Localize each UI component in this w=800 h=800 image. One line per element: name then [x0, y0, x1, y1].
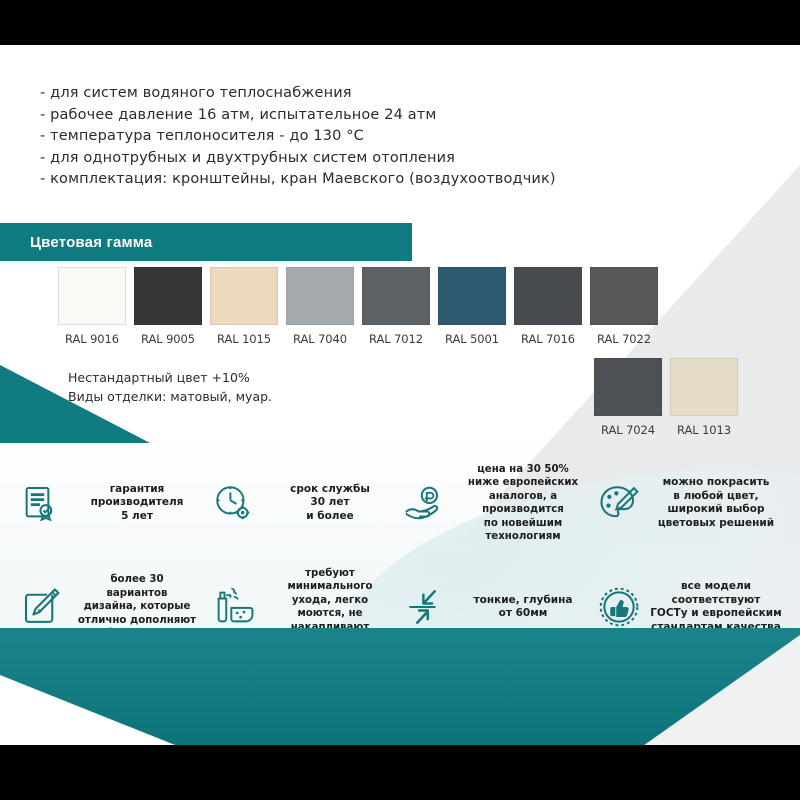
color-swatch-chip: [438, 267, 506, 325]
color-swatch-label: RAL 1015: [210, 332, 278, 346]
hand-ruble-icon: [404, 481, 448, 525]
color-range-title: Цветовая гамма: [30, 234, 152, 251]
palette-row-secondary: RAL 7024RAL 1013: [594, 358, 738, 437]
spec-item: - комплектация: кронштейны, кран Маевско…: [40, 169, 640, 189]
color-swatch-label: RAL 7024: [594, 423, 662, 437]
clock-gear-icon: [211, 481, 255, 525]
feature-item: срок службы30 лети более: [207, 453, 400, 553]
color-swatch[interactable]: RAL 1015: [210, 267, 278, 346]
color-swatch-label: RAL 9005: [134, 332, 202, 346]
color-swatch[interactable]: RAL 7022: [590, 267, 658, 346]
feature-label: срок службы30 лети более: [264, 483, 396, 524]
color-swatch-label: RAL 7012: [362, 332, 430, 346]
color-swatch[interactable]: RAL 7024: [594, 358, 662, 437]
color-swatch-chip: [362, 267, 430, 325]
color-swatch-chip: [514, 267, 582, 325]
spec-item: - рабочее давление 16 атм, испытательное…: [40, 105, 640, 125]
color-swatch[interactable]: RAL 9016: [58, 267, 126, 346]
color-swatch-chip: [210, 267, 278, 325]
color-swatch-chip: [286, 267, 354, 325]
color-swatch-label: RAL 7022: [590, 332, 658, 346]
letterbox-top: [0, 0, 800, 45]
color-range-banner: Цветовая гамма: [0, 223, 412, 261]
feature-label: тонкие, глубинаот 60мм: [457, 594, 589, 621]
feature-label: гарантияпроизводителя5 лет: [71, 483, 203, 524]
color-swatch-label: RAL 7040: [286, 332, 354, 346]
color-swatch[interactable]: RAL 7016: [514, 267, 582, 346]
spec-item: - для однотрубных и двухтрубных систем о…: [40, 148, 640, 168]
color-swatch-label: RAL 9016: [58, 332, 126, 346]
slide-canvas: - для систем водяного теплоснабжения - р…: [0, 45, 800, 745]
color-swatch-label: RAL 5001: [438, 332, 506, 346]
feature-item: гарантияпроизводителя5 лет: [14, 453, 207, 553]
spec-item: - температура теплоносителя - до 130 °С: [40, 126, 640, 146]
quality-badge-icon: [597, 585, 641, 629]
color-swatch-chip: [58, 267, 126, 325]
color-swatch[interactable]: RAL 7012: [362, 267, 430, 346]
slide-root: - для систем водяного теплоснабжения - р…: [0, 0, 800, 800]
feature-item: можно покраситьв любой цвет,широкий выбо…: [593, 453, 786, 553]
certificate-icon: [18, 481, 62, 525]
compress-arrows-icon: [404, 585, 448, 629]
color-swatch[interactable]: RAL 7040: [286, 267, 354, 346]
palette-notes: Нестандартный цвет +10% Виды отделки: ма…: [68, 368, 272, 406]
feature-label: все моделисоответствуютГОСТу и европейск…: [650, 580, 782, 634]
color-swatch-chip: [134, 267, 202, 325]
letterbox-bottom: [0, 745, 800, 800]
feature-label: можно покраситьв любой цвет,широкий выбо…: [650, 476, 782, 530]
color-swatch-chip: [670, 358, 738, 416]
color-swatch[interactable]: RAL 5001: [438, 267, 506, 346]
color-swatch-label: RAL 1013: [670, 423, 738, 437]
feature-label: цена на 30 50%ниже европейскиханалогов, …: [457, 463, 589, 544]
palette-note: Виды отделки: матовый, муар.: [68, 387, 272, 406]
pencil-design-icon: [18, 585, 62, 629]
spec-list: - для систем водяного теплоснабжения - р…: [40, 83, 640, 191]
feature-grid: гарантияпроизводителя5 лет срок службы30…: [14, 453, 786, 657]
feature-item: цена на 30 50%ниже европейскиханалогов, …: [400, 453, 593, 553]
palette-brush-icon: [597, 481, 641, 525]
palette-note: Нестандартный цвет +10%: [68, 368, 272, 387]
spray-sponge-icon: [211, 585, 255, 629]
color-swatch-chip: [594, 358, 662, 416]
color-swatch-chip: [590, 267, 658, 325]
spec-item: - для систем водяного теплоснабжения: [40, 83, 640, 103]
color-swatch-label: RAL 7016: [514, 332, 582, 346]
color-swatch[interactable]: RAL 1013: [670, 358, 738, 437]
palette-row-primary: RAL 9016RAL 9005RAL 1015RAL 7040RAL 7012…: [58, 267, 658, 346]
color-swatch[interactable]: RAL 9005: [134, 267, 202, 346]
